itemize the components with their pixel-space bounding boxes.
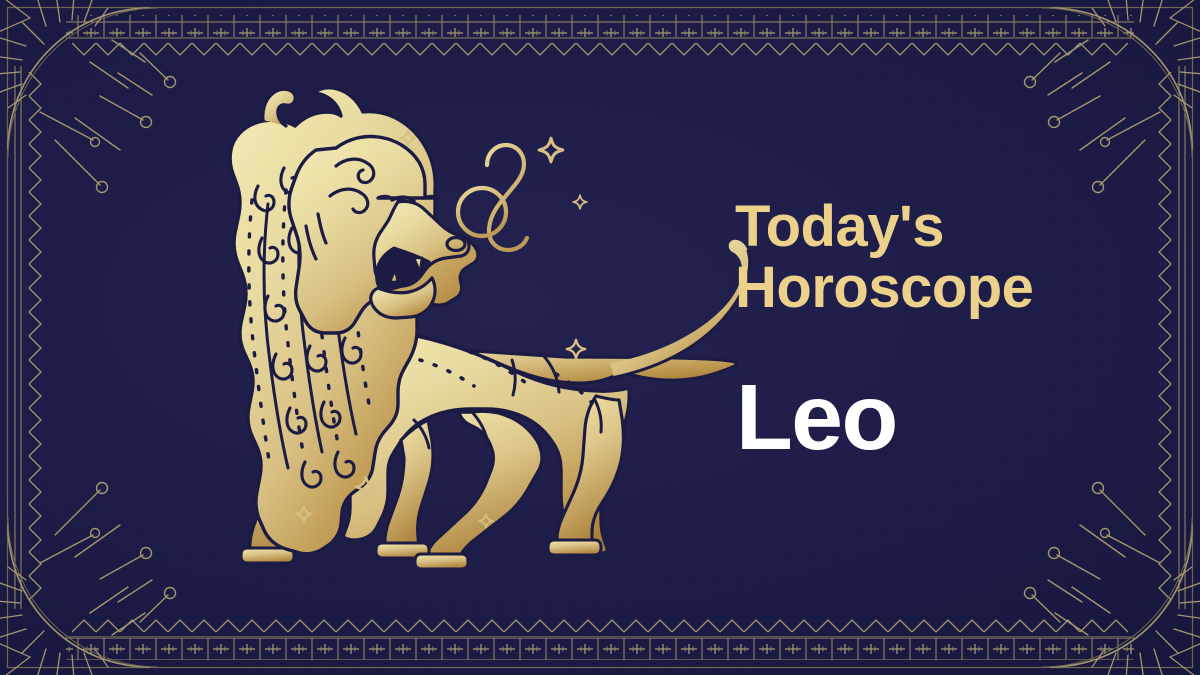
sparkle-star-4 <box>567 340 585 358</box>
sparkle-star-5 <box>356 477 376 497</box>
decorations-layer <box>0 0 1200 675</box>
sparkle-star-3 <box>573 195 587 209</box>
sparkle-star-7 <box>479 514 492 527</box>
page-title: Today's Horoscope <box>735 196 1165 319</box>
sparkle-star-6 <box>296 506 312 522</box>
horoscope-card: Today's Horoscope Leo <box>0 0 1200 675</box>
sparkle-star-2 <box>539 138 563 162</box>
headline-block: Today's Horoscope Leo <box>735 196 1165 319</box>
zodiac-sign-name: Leo <box>736 371 897 464</box>
sparkle-star-1 <box>400 130 416 146</box>
leo-zodiac-glyph <box>458 145 527 250</box>
